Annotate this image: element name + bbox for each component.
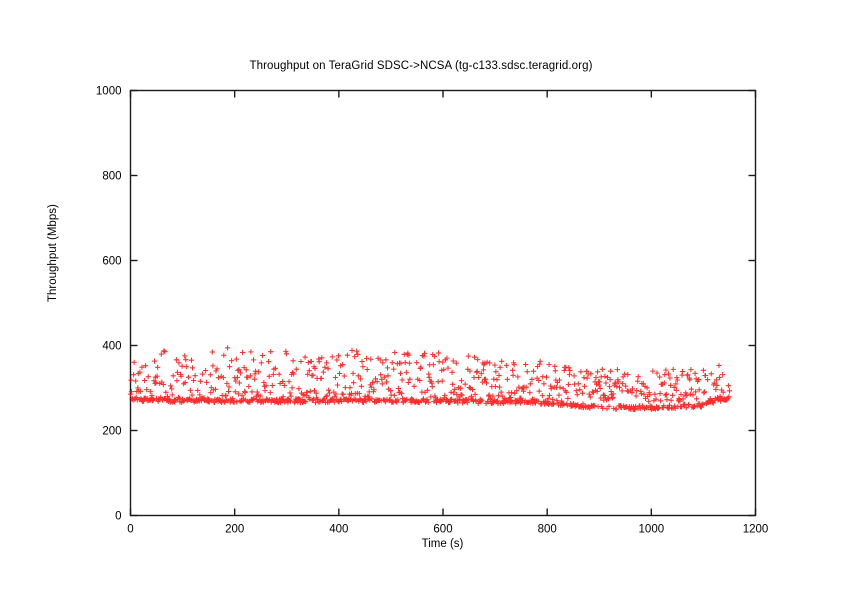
plot-frame bbox=[131, 91, 756, 516]
plot-surface: 02004006008001000 020040060080010001200 bbox=[0, 0, 842, 595]
svg-text:1000: 1000 bbox=[96, 86, 122, 98]
svg-text:600: 600 bbox=[102, 256, 121, 268]
y-axis-ticks bbox=[131, 91, 756, 516]
svg-text:800: 800 bbox=[102, 171, 121, 183]
svg-text:0: 0 bbox=[115, 511, 121, 523]
svg-text:1000: 1000 bbox=[639, 524, 665, 536]
data-point-markers bbox=[128, 345, 732, 412]
svg-text:0: 0 bbox=[127, 524, 133, 536]
throughput-scatter-chart: Throughput on TeraGrid SDSC->NCSA (tg-c1… bbox=[0, 0, 842, 595]
svg-text:1200: 1200 bbox=[743, 524, 769, 536]
svg-text:400: 400 bbox=[329, 524, 348, 536]
x-axis-ticks bbox=[131, 91, 756, 516]
x-axis-tick-labels: 020040060080010001200 bbox=[127, 524, 768, 536]
y-axis-tick-labels: 02004006008001000 bbox=[96, 86, 122, 523]
svg-text:800: 800 bbox=[538, 524, 557, 536]
svg-text:600: 600 bbox=[433, 524, 452, 536]
svg-text:200: 200 bbox=[102, 426, 121, 438]
svg-text:400: 400 bbox=[102, 341, 121, 353]
svg-text:200: 200 bbox=[225, 524, 244, 536]
